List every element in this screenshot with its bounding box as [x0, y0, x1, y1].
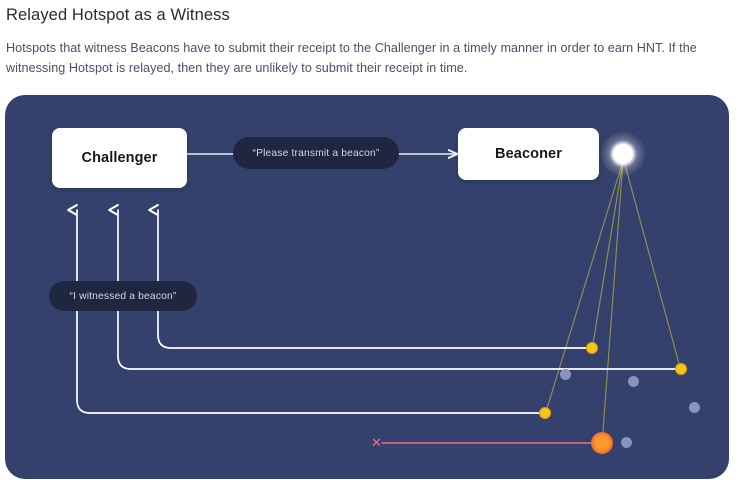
x-mark-icon: ✕: [371, 436, 382, 449]
node-challenger[interactable]: Challenger: [52, 128, 187, 188]
idle-dot-2: [628, 376, 639, 387]
screenshot-root: Relayed Hotspot as a Witness Hotspots th…: [0, 0, 740, 480]
witness-dot-3[interactable]: [539, 407, 551, 419]
node-challenger-label: Challenger: [82, 150, 158, 166]
witness-path-1: [158, 210, 592, 348]
beacon-rays: [545, 161, 681, 445]
witness-dot-1[interactable]: [586, 342, 598, 354]
witness-dot-2[interactable]: [675, 363, 687, 375]
message-transmit-beacon: “Please transmit a beacon”: [233, 137, 399, 169]
beacon-source-icon: [601, 132, 645, 176]
relayed-hotspot-dot[interactable]: [591, 432, 613, 454]
idle-dot-3: [689, 402, 700, 413]
node-beaconer[interactable]: Beaconer: [458, 128, 599, 180]
message-transmit-beacon-label: “Please transmit a beacon”: [253, 148, 380, 159]
diagram-panel: Challenger Beaconer “Please transmit a b…: [5, 95, 729, 479]
page-title: Relayed Hotspot as a Witness: [6, 4, 736, 26]
message-witnessed-beacon-label: “I witnessed a beacon”: [70, 291, 177, 302]
node-beaconer-label: Beaconer: [495, 146, 562, 162]
idle-dot-1: [560, 369, 571, 380]
page-description: Hotspots that witness Beacons have to su…: [6, 38, 738, 78]
message-witnessed-beacon: “I witnessed a beacon”: [49, 281, 197, 311]
header: Relayed Hotspot as a Witness Hotspots th…: [6, 0, 736, 78]
idle-dot-4: [621, 437, 632, 448]
witness-receipt-paths: [77, 210, 677, 413]
witness-path-3: [77, 210, 545, 413]
